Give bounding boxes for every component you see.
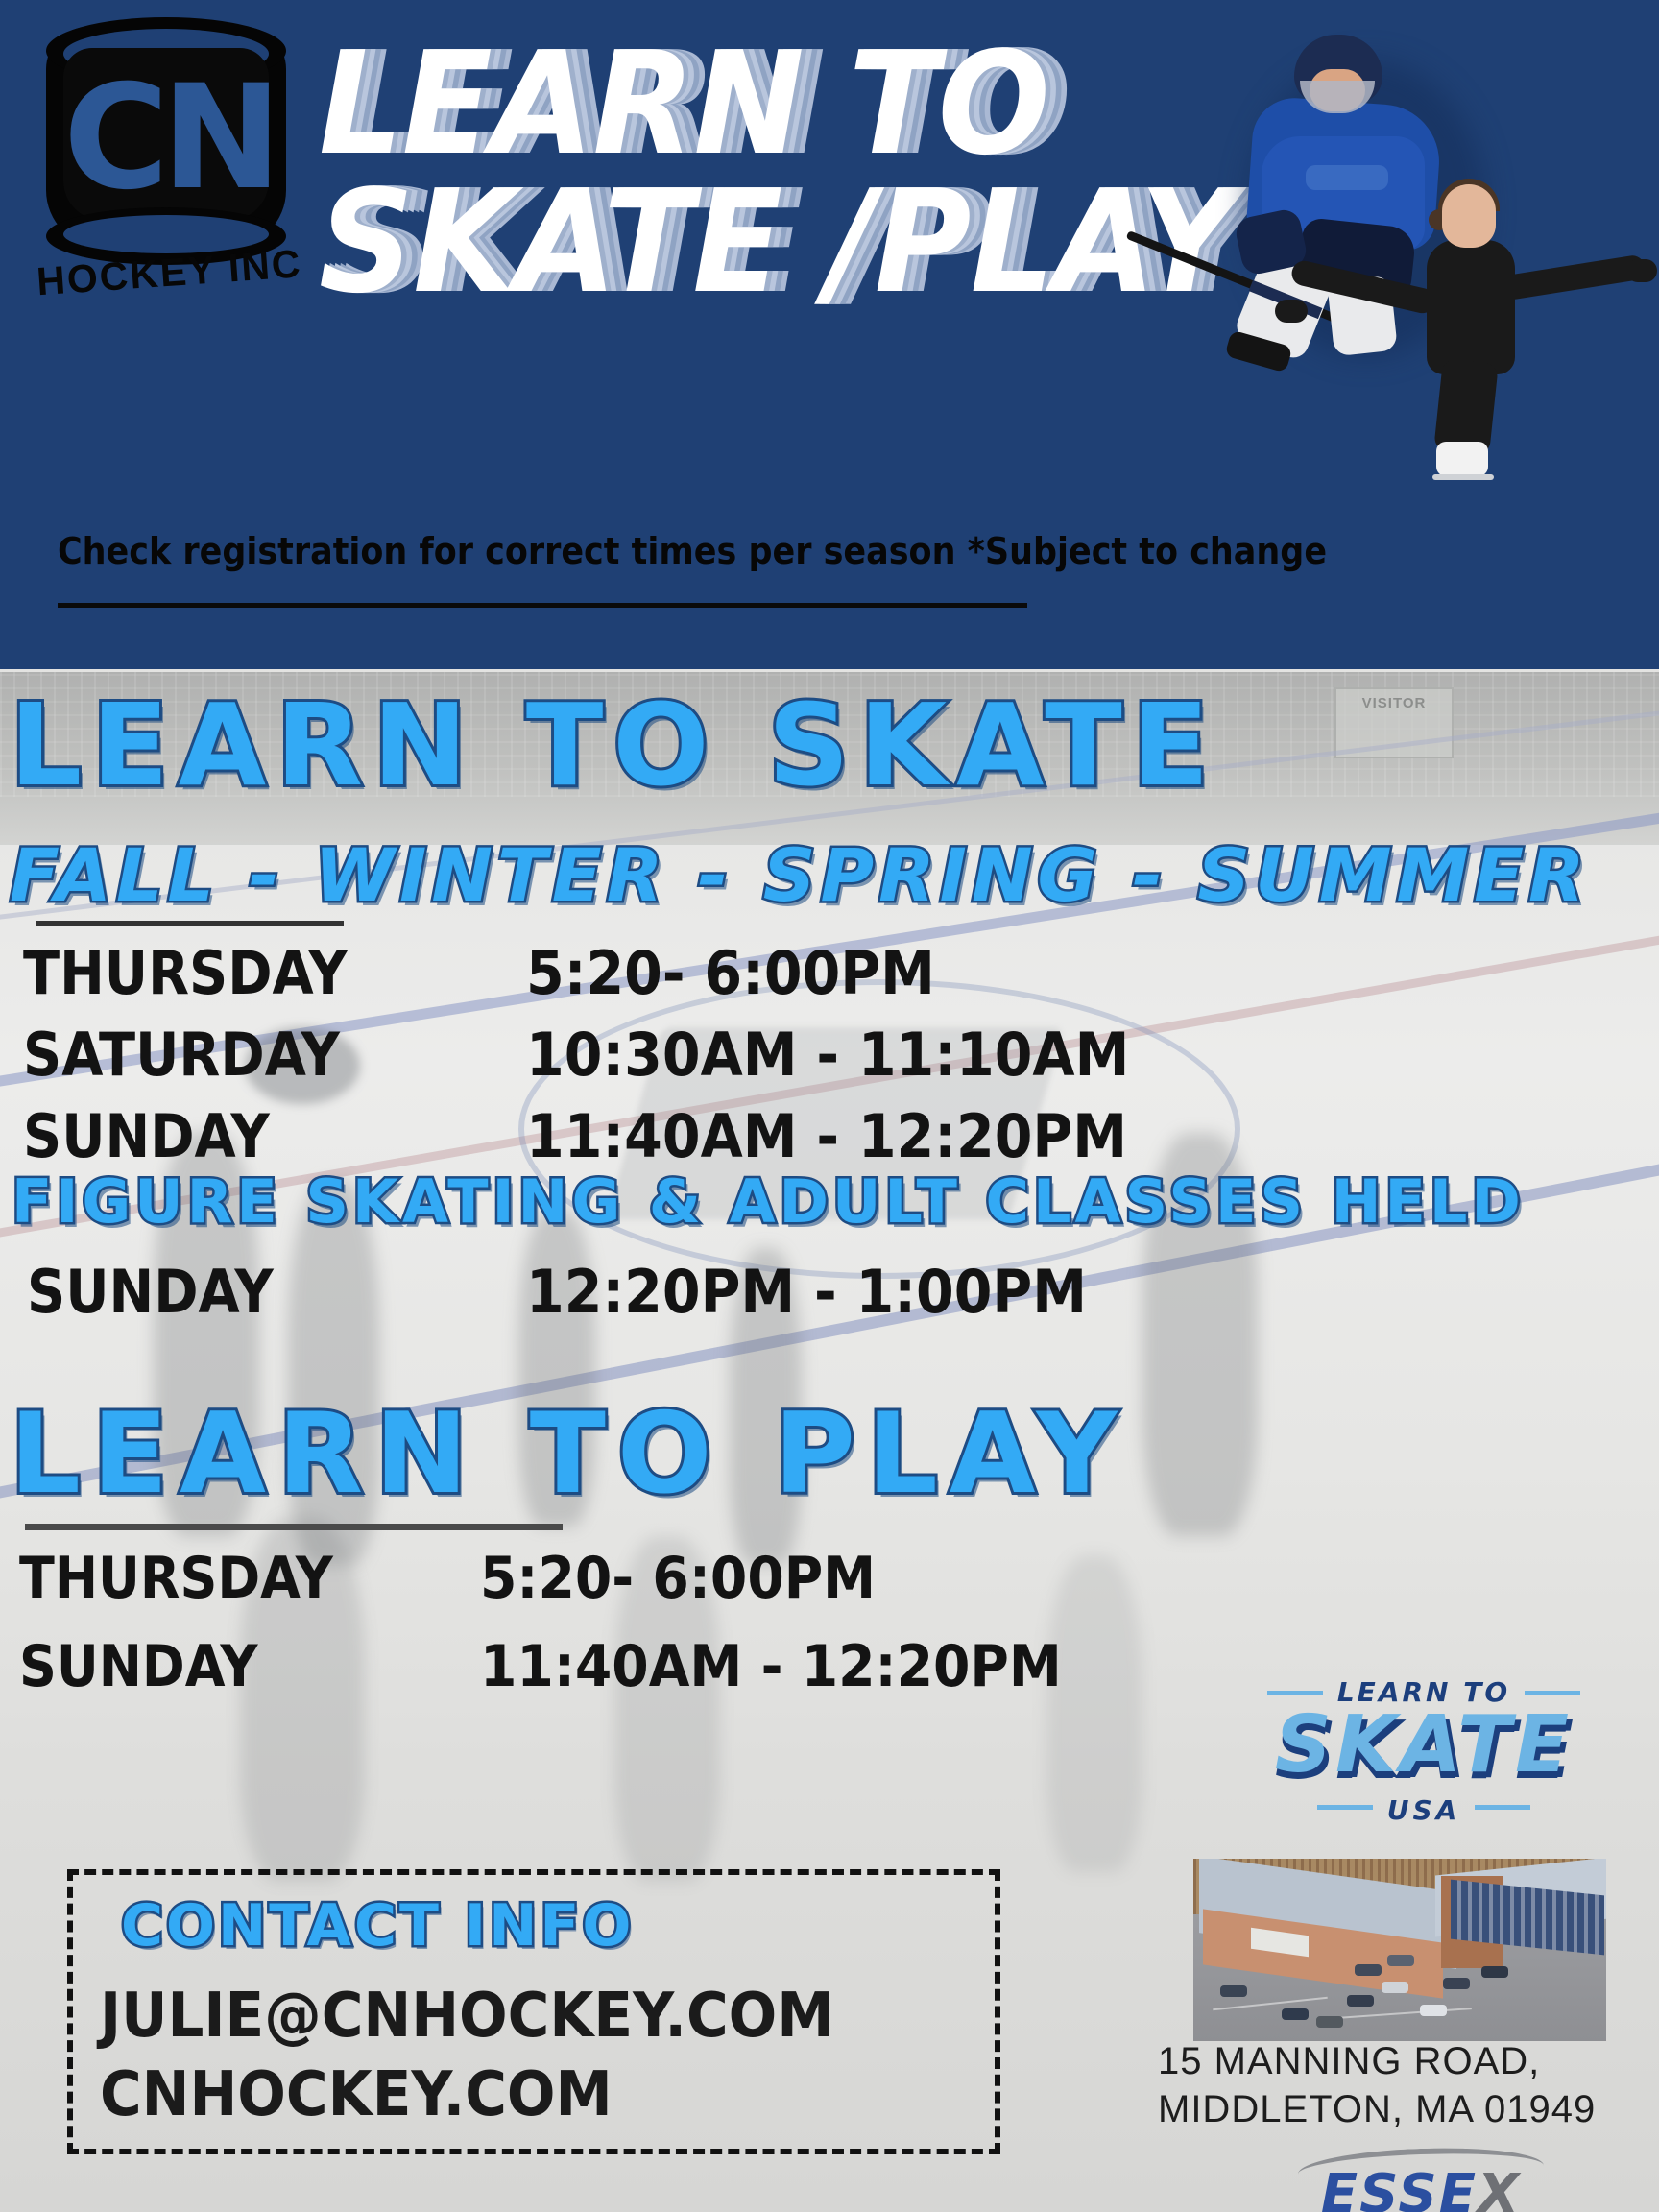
contact-email[interactable]: JULIE@CNHOCKEY.COM: [100, 1981, 833, 2052]
skater-left-hand: [1275, 300, 1308, 323]
photo-car: [1355, 1964, 1382, 1976]
schedule-row: THURSDAY 5:20- 6:00PM: [0, 1545, 1248, 1633]
address-line-1: 15 MANNING ROAD,: [1158, 2037, 1657, 2085]
schedule-row: SUNDAY 11:40AM - 12:20PM: [0, 1633, 1248, 1721]
skater-right-hand: [1626, 259, 1657, 282]
dash-rule-right-icon: [1475, 1805, 1530, 1810]
sports-center-aerial-photo: [1193, 1859, 1606, 2041]
skater-boot: [1436, 442, 1488, 476]
learn-to-play-schedule: THURSDAY 5:20- 6:00PM SUNDAY 11:40AM - 1…: [0, 1545, 1248, 1721]
partner-logo-top: LEARN TO: [1337, 1676, 1510, 1708]
essex-wordmark: ESSEX: [1277, 2168, 1565, 2212]
title-line-2: SKATE /PLAY: [319, 173, 1212, 311]
schedule-time: 11:40AM - 12:20PM: [526, 1101, 1127, 1171]
dash-rule-left-icon: [1267, 1691, 1323, 1695]
partner-logo-main: SKATE: [1232, 1704, 1616, 1787]
learn-to-skate-schedule: THURSDAY 5:20- 6:00PM SATURDAY 10:30AM -…: [0, 938, 1248, 1183]
skater-blade: [1432, 474, 1494, 480]
photo-car: [1481, 1966, 1508, 1978]
contact-info-title: CONTACT INFO: [121, 1892, 634, 1960]
schedule-day: SUNDAY: [27, 1257, 274, 1327]
skater-left-arm: [1289, 258, 1437, 316]
schedule-row: SUNDAY 12:20PM - 1:00PM: [0, 1257, 1248, 1338]
title-line-1: LEARN TO: [319, 35, 1212, 173]
schedule-day: THURSDAY: [19, 1545, 333, 1612]
learn-to-skate-heading: LEARN TO SKATE: [10, 679, 1218, 811]
photo-car: [1387, 1955, 1414, 1966]
learn-to-play-heading: LEARN TO PLAY: [10, 1389, 1128, 1519]
essex-sports-center-logo: ESSEX SPORTS CENTER: [1277, 2152, 1565, 2212]
schedule-time: 10:30AM - 11:10AM: [526, 1020, 1129, 1090]
address-line-2: MIDDLETON, MA 01949: [1158, 2085, 1657, 2133]
skater-head: [1442, 184, 1496, 248]
schedule-time: 12:20PM - 1:00PM: [526, 1257, 1087, 1327]
cn-hockey-logo: CN HOCKEY INC: [17, 10, 315, 288]
partner-logo-bottom-row: USA: [1232, 1787, 1616, 1818]
photo-car: [1347, 1995, 1374, 2007]
schedule-row: SATURDAY 10:30AM - 11:10AM: [0, 1020, 1248, 1101]
venue-address: 15 MANNING ROAD, MIDDLETON, MA 01949: [1158, 2037, 1657, 2133]
schedule-row: THURSDAY 5:20- 6:00PM: [0, 938, 1248, 1020]
figure-skater-photo: [1267, 171, 1651, 459]
photo-car: [1316, 2016, 1343, 2028]
photo-car: [1382, 1982, 1408, 1993]
dash-rule-left-icon: [1317, 1805, 1373, 1810]
section-divider-skate: [36, 921, 344, 926]
photo-car: [1420, 2005, 1447, 2016]
schedule-day: SUNDAY: [23, 1101, 270, 1171]
schedule-day: SATURDAY: [23, 1020, 340, 1090]
dash-rule-right-icon: [1525, 1691, 1580, 1695]
contact-info-box: CONTACT INFO JULIE@CNHOCKEY.COM CNHOCKEY…: [67, 1869, 1000, 2154]
registration-note: Check registration for correct times per…: [58, 530, 950, 572]
schedule-day: SUNDAY: [19, 1633, 257, 1700]
schedule-time: 5:20- 6:00PM: [526, 938, 935, 1008]
poster-title: LEARN TO SKATE /PLAY: [319, 35, 1279, 311]
header-banner: CN HOCKEY INC LEARN TO SKATE /PLAY Check…: [0, 0, 1659, 669]
learn-to-skate-usa-logo: LEARN TO SKATE USA: [1232, 1672, 1616, 1836]
contact-website[interactable]: CNHOCKEY.COM: [100, 2059, 613, 2130]
section-divider-play: [25, 1524, 563, 1530]
skater-right-arm: [1501, 253, 1647, 301]
photo-car: [1220, 1985, 1247, 1997]
schedule-day: THURSDAY: [23, 938, 348, 1008]
seasons-subheading: FALL - WINTER - SPRING - SUMMER: [10, 832, 1590, 918]
essex-wordmark-x: X: [1478, 2163, 1521, 2212]
photo-car: [1282, 2008, 1309, 2020]
header-divider: [58, 603, 1027, 608]
content-area: LEARN TO SKATE FALL - WINTER - SPRING - …: [0, 669, 1659, 2212]
schedule-time: 11:40AM - 12:20PM: [480, 1633, 1062, 1700]
schedule-time: 5:20- 6:00PM: [480, 1545, 876, 1612]
flyer-poster: VISITOR CN HOCKEY INC LEARN TO: [0, 0, 1659, 2212]
partner-logo-bottom: USA: [1387, 1794, 1461, 1826]
essex-wordmark-a: ESSE: [1321, 2163, 1478, 2212]
figure-skating-schedule: SUNDAY 12:20PM - 1:00PM: [0, 1257, 1248, 1338]
photo-car: [1443, 1978, 1470, 1989]
cn-monogram: CN: [63, 52, 269, 225]
figure-skating-heading: FIGURE SKATING & ADULT CLASSES HELD: [12, 1166, 1525, 1237]
skater-torso: [1427, 240, 1515, 374]
